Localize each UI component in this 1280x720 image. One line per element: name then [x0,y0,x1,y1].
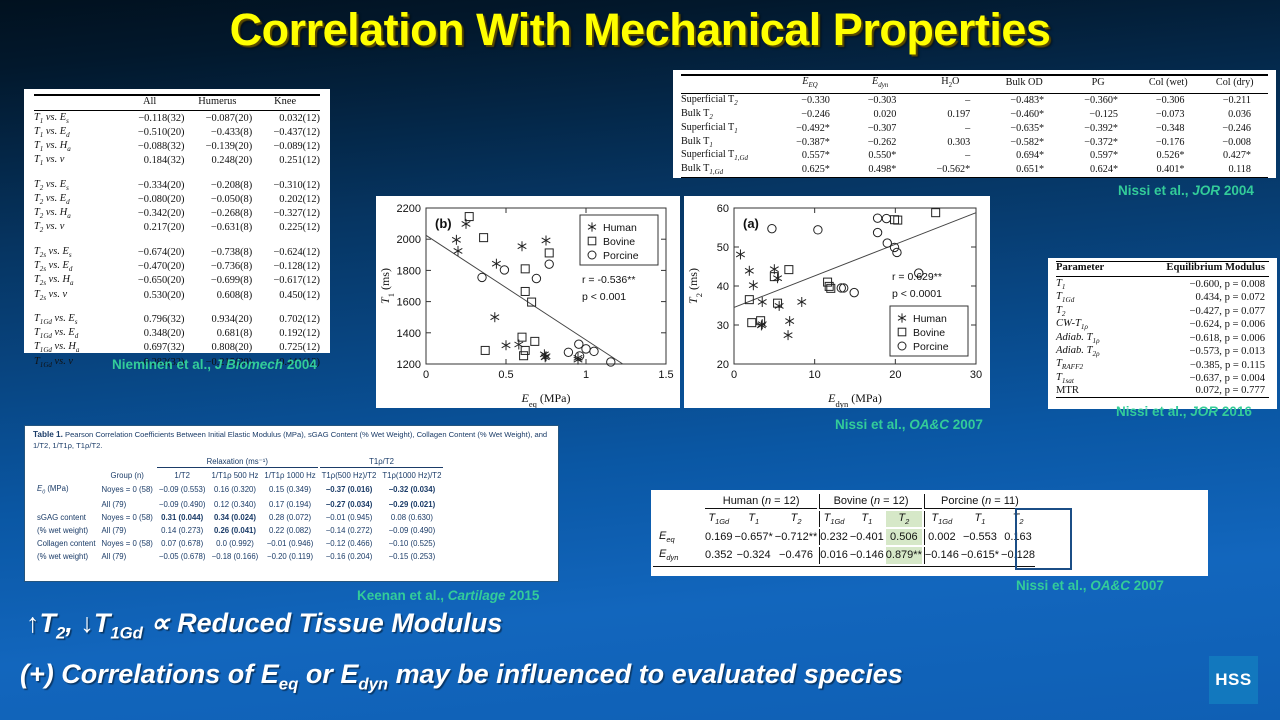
table-cell: 0.225(12) [252,221,320,235]
citation-year: 2016 [1218,404,1252,419]
table-row: All (79)−0.09 (0.490)0.12 (0.340)0.17 (0… [35,499,443,510]
citation-author: Keenan et al., [357,588,448,603]
svg-text:60: 60 [717,203,729,215]
citation-year: 2007 [949,417,983,432]
table-cell: −0.15 (0.253) [380,551,443,562]
table-cell: −0.387* [773,135,847,149]
table-row: T2 vs. Es−0.334(20)−0.208(8)−0.310(12) [34,178,320,192]
row-label: Bulk T2 [681,108,773,122]
table-cell: −0.330 [773,93,847,107]
row-label: T2 vs. ν [34,221,117,235]
row-label: T1sat [1056,372,1124,385]
table-row: Bulk T1−0.387*−0.2620.303−0.582*−0.372*−… [681,135,1268,149]
table-row: Bulk T2−0.2460.0200.197−0.460*−0.125−0.0… [681,108,1268,122]
table-cell: 0.08 (0.630) [380,512,443,523]
row-label: TRAFF2 [1056,358,1124,371]
table-cell: 0.651* [987,163,1061,177]
table-cell: 0.434, p = 0.072 [1124,291,1269,304]
citation-journal: J Biomech [215,357,283,372]
conclusion-term: E [340,659,358,689]
citation-journal: JOR [1192,183,1220,198]
row-label: T1Gd vs. Es [34,312,117,326]
svg-text:Human: Human [913,313,947,325]
conclusion-term: T [94,608,111,638]
table-cell: 0.002 [924,529,959,545]
group-cell: All (79) [100,551,155,562]
svg-text:(b): (b) [435,216,452,231]
svg-text:1: 1 [583,369,589,381]
table-jor2004: EEQEdynH2OBulk ODPGCol (wet)Col (dry) Su… [681,74,1268,178]
column-header: PG [1061,75,1135,91]
arrow-down-icon: , ↓ [65,608,94,638]
row-label: T1 [1056,277,1124,291]
table-row: E0 (MPa)Noyes = 0 (58)−0.09 (0.553)0.16 … [35,483,443,497]
table-cell: −0.01 (0.945) [320,512,379,523]
table-cell: −0.483* [987,93,1061,107]
table-cell: −0.09 (0.553) [157,483,208,497]
table-cell: 0.251(12) [252,154,320,168]
table-cell: 0.14 (0.273) [157,525,208,536]
table-cell: 0.232 [819,529,848,545]
table-row: T2s vs. ν0.530(20)0.608(8)0.450(12) [34,288,320,302]
table-cell: −0.32 (0.034) [380,483,443,497]
table-cell: −0.088(32) [117,140,185,154]
chart-a-svg: 01020302030405060(a)HumanBovinePorciner … [684,196,990,408]
table-cell: – [913,149,987,163]
svg-text:Eeq (MPa): Eeq (MPa) [520,391,570,408]
group-header: Relaxation (ms⁻¹) [157,456,318,468]
table-oac2007: Human (n = 12)Bovine (n = 12)Porcine (n … [651,492,1037,572]
table-cell: −0.437(12) [252,125,320,139]
citation-nissi-jor2004: Nissi et al., JOR 2004 [1118,183,1254,198]
svg-text:0: 0 [731,369,737,381]
table-row: T1Gd vs. Ha0.697(32)0.808(20)0.725(12) [34,341,320,355]
table-cell: −0.118(32) [117,111,185,126]
table-cell: 0.450(12) [252,288,320,302]
table-row: T2 vs. Ha−0.342(20)−0.268(8)−0.327(12) [34,207,320,221]
row-label: T2s vs. Es [34,245,117,259]
table-row: (% wet weight)All (79)−0.05 (0.678)−0.18… [35,551,443,562]
row-label: Eeq [653,529,703,545]
citation-nissi-jor2016: Nissi et al., JOR 2016 [1116,404,1252,419]
group-cell: Noyes = 0 (58) [100,483,155,497]
row-label: T1Gd vs. Ed [34,326,117,340]
table-row: T1 vs. Ha−0.088(32)−0.139(20)−0.089(12) [34,140,320,154]
table-cell: −0.211 [1202,93,1269,107]
row-label: T2s vs. Ed [34,259,117,273]
hss-logo: HSS [1209,656,1258,704]
table-row: T2 vs. Ed−0.080(20)−0.050(8)0.202(12) [34,192,320,206]
row-label: T1Gd vs. Ha [34,341,117,355]
row-label: T1 vs. Es [34,111,117,126]
svg-text:T1 (ms): T1 (ms) [378,268,396,304]
table-cell: 0.197 [913,108,987,122]
column-header: T1Gd [705,511,733,527]
table-cell: −0.657* [735,529,773,545]
column-header: H2O [913,75,987,91]
row-label: T1 vs. ν [34,154,117,168]
svg-text:1.5: 1.5 [658,369,673,381]
svg-text:p < 0.0001: p < 0.0001 [892,288,942,300]
column-header [35,470,98,481]
table-row: T1−0.600, p = 0.008 [1056,277,1269,291]
table-row: T1 vs. Es−0.118(32)−0.087(20)0.032(12) [34,111,320,126]
table-cell: −0.20 (0.119) [262,551,317,562]
table-cell: −0.080(20) [117,192,185,206]
table-cell: −0.307 [847,121,913,135]
table-row: sGAG contentNoyes = 0 (58)0.31 (0.044)0.… [35,512,443,523]
table-cell: −0.146 [850,547,884,563]
table-cell: −0.09 (0.490) [157,499,208,510]
chart-a-panel: 01020302030405060(a)HumanBovinePorciner … [684,196,990,408]
conclusion-text: or [298,659,340,689]
conclusion-text: ∝ Reduced Tissue Modulus [143,608,502,638]
svg-text:1400: 1400 [397,328,421,340]
row-label: T2 [1056,304,1124,317]
table-row: CW-T1ρ−0.624, p = 0.006 [1056,318,1269,331]
table-cell: −0.008 [1202,135,1269,149]
table-cell: −0.460* [987,108,1061,122]
svg-text:30: 30 [970,369,982,381]
table-cell: 0.401* [1135,163,1201,177]
table-cell: 0.15 (0.349) [262,483,317,497]
table-cell: 0.26 (0.041) [210,525,261,536]
table-row: MTR0.072, p = 0.777 [1056,385,1269,397]
svg-text:2200: 2200 [397,203,421,215]
table-cell: 0.192(12) [252,326,320,340]
row-label: E0 (MPa) [35,483,98,497]
group-header: T1ρ/T2 [320,456,444,468]
column-header: Edyn [847,75,913,91]
table-keenan-caption: Table 1. Pearson Correlation Coefficient… [33,430,552,451]
table-cell: 0.597* [1061,149,1135,163]
table-cell: −0.348 [1135,121,1201,135]
table-cell: −0.738(8) [184,245,252,259]
table-cell: 0.702(12) [252,312,320,326]
column-header: T1 [735,511,773,527]
species-header: Bovine (n = 12) [819,494,922,509]
table-oac2007-panel: Human (n = 12)Bovine (n = 12)Porcine (n … [651,490,1208,576]
table-cell: 0.248(20) [184,154,252,168]
conclusion-line-1: ↑T2, ↓T1Gd ∝ Reduced Tissue Modulus [26,608,502,643]
svg-text:p < 0.001: p < 0.001 [582,291,626,303]
table-cell: 0.624* [1061,163,1135,177]
table-cell: −0.631(8) [184,221,252,235]
conclusion-text: may be influenced to evaluated species [388,659,903,689]
table-cell: −0.073 [1135,108,1201,122]
row-label: Collagen content [35,538,98,549]
column-header: Parameter [1056,262,1124,276]
conclusion-subscript: dyn [358,674,388,693]
table-cell: −0.635* [987,121,1061,135]
svg-text:1200: 1200 [397,359,421,371]
conclusion-subscript: eq [279,674,299,693]
table-cell: −0.433(8) [184,125,252,139]
citation-nissi-oac2007-chart: Nissi et al., OA&C 2007 [835,417,983,432]
svg-text:Porcine: Porcine [913,341,949,353]
group-cell: Noyes = 0 (58) [100,538,155,549]
table-cell: −0.306 [1135,93,1201,107]
column-header: T2 [775,511,818,527]
column-header: 1/T1ρ 1000 Hz [262,470,317,481]
svg-text:1600: 1600 [397,297,421,309]
table-cell: 0.808(20) [184,341,252,355]
table-cell: −0.334(20) [117,178,185,192]
table-keenan: Relaxation (ms⁻¹)T1ρ/T2Group (n)1/T21/T1… [33,454,445,564]
svg-text:40: 40 [717,281,729,293]
svg-text:Human: Human [603,222,637,234]
table-row: Eeq0.169−0.657*−0.712**0.232−0.4010.5060… [653,529,1035,545]
table-cell: 0.625* [773,163,847,177]
table-cell: −0.303 [847,93,913,107]
table-row: Superficial T2−0.330−0.303–−0.483*−0.360… [681,93,1268,107]
table-cell: −0.427, p = 0.077 [1124,304,1269,317]
table-cell: −0.089(12) [252,140,320,154]
table-cell: −0.342(20) [117,207,185,221]
table-cell: 0.934(20) [184,312,252,326]
table-cell: 0.31 (0.044) [157,512,208,523]
conclusion-line-2: (+) Correlations of Eeq or Edyn may be i… [20,659,903,694]
citation-author: Nissi et al., [835,417,909,432]
table-cell: 0.530(20) [117,288,185,302]
svg-text:20: 20 [889,369,901,381]
caption-text: Pearson Correlation Coefficients Between… [33,430,547,450]
row-label: T2 vs. Ed [34,192,117,206]
svg-text:r = 0.629**: r = 0.629** [892,271,942,283]
table-cell: −0.208(8) [184,178,252,192]
table-cell: 0.498* [847,163,913,177]
table-keenan-panel: Table 1. Pearson Correlation Coefficient… [24,425,559,582]
citation-author: Nissi et al., [1016,578,1090,593]
svg-text:2000: 2000 [397,234,421,246]
table-cell: 0.22 (0.082) [262,525,317,536]
table-cell: −0.624, p = 0.006 [1124,318,1269,331]
svg-text:(a): (a) [743,216,759,231]
table-row: T1Gd0.434, p = 0.072 [1056,291,1269,304]
table-cell: 0.34 (0.024) [210,512,261,523]
table-jor2016: ParameterEquilibrium Modulus T1−0.600, p… [1056,261,1269,399]
table-cell: 0.036 [1202,108,1269,122]
table-nieminen-panel: AllHumerusKneeT1 vs. Es−0.118(32)−0.087(… [24,89,330,353]
table-cell: 0.694* [987,149,1061,163]
table-cell: −0.139(20) [184,140,252,154]
table-row: T1 vs. ν0.184(32)0.248(20)0.251(12) [34,154,320,168]
conclusion-term: T [40,608,57,638]
table-cell: 0.608(8) [184,288,252,302]
table-cell: −0.16 (0.204) [320,551,379,562]
citation-journal: OA&C [909,417,949,432]
table-cell: 0.303 [913,135,987,149]
chart-b-svg: 00.511.5120014001600180020002200(b)Human… [376,196,680,408]
table-row: (% wet weight)All (79)0.14 (0.273)0.26 (… [35,525,443,536]
species-header: Human (n = 12) [705,494,817,509]
table-row: T1Gd vs. Es0.796(32)0.934(20)0.702(12) [34,312,320,326]
table-cell: −0.27 (0.034) [320,499,379,510]
column-header: T1ρ(500 Hz)/T2 [320,470,379,481]
citation-keenan: Keenan et al., Cartilage 2015 [357,588,539,603]
table-cell: −0.10 (0.525) [380,538,443,549]
table-cell: −0.392* [1061,121,1135,135]
column-header: Humerus [184,95,252,109]
table-cell: 0.427* [1202,149,1269,163]
table-cell: −0.327(12) [252,207,320,221]
table-cell: 0.032(12) [252,111,320,126]
row-label: Adiab. T2ρ [1056,345,1124,358]
table-cell: −0.736(8) [184,259,252,273]
conclusion-term: E [261,659,279,689]
table-cell: 0.28 (0.072) [262,512,317,523]
table-cell: 0.506 [886,529,922,545]
row-label: T1 vs. Ed [34,125,117,139]
column-header [34,95,117,109]
column-header: Col (wet) [1135,75,1201,91]
row-label: Superficial T1 [681,121,773,135]
table-cell: 0.184(32) [117,154,185,168]
table-row: T2s vs. Ha−0.650(20)−0.699(8)−0.617(12) [34,274,320,288]
row-label: T2s vs. ν [34,288,117,302]
column-header: Knee [252,95,320,109]
column-header: T1Gd [924,511,959,527]
svg-text:10: 10 [809,369,821,381]
table-cell: −0.618, p = 0.006 [1124,331,1269,344]
table-cell: −0.372* [1061,135,1135,149]
row-label: (% wet weight) [35,525,98,536]
row-label: T2 vs. Es [34,178,117,192]
table-cell: −0.712** [775,529,818,545]
column-header: T2 [1001,511,1035,527]
table-cell: 0.348(20) [117,326,185,340]
table-cell: −0.615* [961,547,999,563]
column-header: T1 [850,511,884,527]
column-header: T1ρ(1000 Hz)/T2 [380,470,443,481]
table-cell: −0.268(8) [184,207,252,221]
svg-text:30: 30 [717,320,729,332]
svg-text:50: 50 [717,242,729,254]
table-cell: 0.526* [1135,149,1201,163]
table-cell: −0.128(12) [252,259,320,273]
table-cell: −0.492* [773,121,847,135]
column-header [681,75,773,91]
table-row: T1sat−0.637, p = 0.004 [1056,372,1269,385]
table-cell: – [913,121,987,135]
citation-nieminen: Nieminen et al., J Biomech 2004 [112,357,317,372]
table-cell: 0.17 (0.194) [262,499,317,510]
table-jor2016-panel: ParameterEquilibrium Modulus T1−0.600, p… [1048,258,1277,409]
citation-year: 2004 [283,357,317,372]
table-cell: −0.553 [961,529,999,545]
svg-text:0: 0 [423,369,429,381]
row-label: Edyn [653,547,703,563]
group-cell: All (79) [100,525,155,536]
svg-text:1800: 1800 [397,265,421,277]
row-label: T1 vs. Ha [34,140,117,154]
table-cell: −0.624(12) [252,245,320,259]
row-label: sGAG content [35,512,98,523]
table-cell: −0.125 [1061,108,1135,122]
svg-text:r = -0.536**: r = -0.536** [582,274,635,286]
table-row: T2−0.427, p = 0.077 [1056,304,1269,317]
column-header: 1/T1ρ 500 Hz [210,470,261,481]
row-label [35,499,98,510]
table-cell: −0.476 [775,547,818,563]
table-cell: −0.360* [1061,93,1135,107]
column-header: Equilibrium Modulus [1124,262,1269,276]
conclusion-subscript: 1Gd [110,623,143,642]
table-cell: −0.401 [850,529,884,545]
table-row: Bulk T1,Gd0.625*0.498*−0.562*0.651*0.624… [681,163,1268,177]
page-title: Correlation With Mechanical Properties [0,4,1280,56]
table-row: TRAFF2−0.385, p = 0.115 [1056,358,1269,371]
table-cell: −0.01 (0.946) [262,538,317,549]
row-label: T2s vs. Ha [34,274,117,288]
row-label: T1Gd vs. ν [34,355,117,369]
table-row: Adiab. T1ρ−0.618, p = 0.006 [1056,331,1269,344]
table-cell: −0.176 [1135,135,1201,149]
table-cell: −0.324 [735,547,773,563]
column-header: T2 [886,511,922,527]
table-jor2004-panel: EEQEdynH2OBulk ODPGCol (wet)Col (dry) Su… [673,70,1276,178]
row-label: T2 vs. Ha [34,207,117,221]
table-cell: −0.582* [987,135,1061,149]
table-cell: 0.550* [847,149,913,163]
conclusion-text: (+) Correlations of [20,659,261,689]
svg-text:Bovine: Bovine [603,236,635,248]
table-cell: −0.470(20) [117,259,185,273]
table-cell: 0.681(8) [184,326,252,340]
table-cell: −0.262 [847,135,913,149]
citation-author: Nissi et al., [1116,404,1190,419]
table-row: Edyn0.352−0.324−0.4760.016−0.1460.879**−… [653,547,1035,563]
svg-text:T2 (ms): T2 (ms) [686,268,704,304]
column-header: T1 [961,511,999,527]
column-header: Bulk OD [987,75,1061,91]
table-row: Adiab. T2ρ−0.573, p = 0.013 [1056,345,1269,358]
table-row: T1Gd vs. Ed0.348(20)0.681(8)0.192(12) [34,326,320,340]
table-cell: −0.562* [913,163,987,177]
table-cell: −0.12 (0.466) [320,538,379,549]
table-cell: −0.600, p = 0.008 [1124,277,1269,291]
table-cell: 0.072, p = 0.777 [1124,385,1269,397]
table-cell: −0.18 (0.166) [210,551,261,562]
table-cell: −0.573, p = 0.013 [1124,345,1269,358]
table-cell: 0.557* [773,149,847,163]
table-cell: −0.674(20) [117,245,185,259]
table-cell: −0.37 (0.016) [320,483,379,497]
table-cell: 0.879** [886,547,922,563]
table-cell: −0.087(20) [184,111,252,126]
table-cell: 0.217(20) [117,221,185,235]
table-cell: −0.310(12) [252,178,320,192]
table-row: Superficial T1−0.492*−0.307–−0.635*−0.39… [681,121,1268,135]
table-cell: −0.650(20) [117,274,185,288]
table-cell: 0.12 (0.340) [210,499,261,510]
table-cell: 0.0 (0.992) [210,538,261,549]
table-cell: 0.697(32) [117,341,185,355]
svg-text:Porcine: Porcine [603,250,639,262]
citation-year: 2004 [1220,183,1254,198]
row-label: Bulk T1 [681,135,773,149]
table-cell: −0.050(8) [184,192,252,206]
table-row: Superficial T1,Gd0.557*0.550*–0.694*0.59… [681,149,1268,163]
table-cell: 0.016 [819,547,848,563]
chart-b-panel: 00.511.5120014001600180020002200(b)Human… [376,196,680,408]
citation-year: 2007 [1130,578,1164,593]
table-cell: −0.246 [1202,121,1269,135]
citation-journal: JOR [1190,404,1218,419]
svg-text:Bovine: Bovine [913,327,945,339]
table-row: T2s vs. Es−0.674(20)−0.738(8)−0.624(12) [34,245,320,259]
table-row: T1 vs. Ed−0.510(20)−0.433(8)−0.437(12) [34,125,320,139]
